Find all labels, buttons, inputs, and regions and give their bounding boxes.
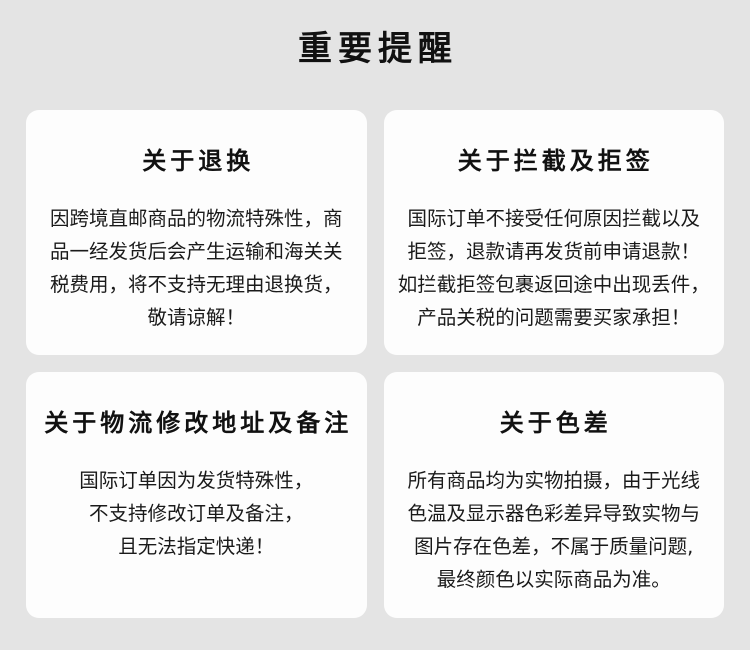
- page-title: 重要提醒: [0, 32, 750, 72]
- notice-card-returns: 关于退换 因跨境直邮商品的物流特殊性，商 品一经发货后会产生运输和海关关 税费用…: [26, 110, 367, 355]
- card-title: 关于色差: [496, 408, 612, 438]
- card-body-line: 国际订单不接受任何原因拦截以及: [398, 202, 710, 235]
- card-body-line: 不支持修改订单及备注，: [79, 497, 313, 530]
- card-body-line: 所有商品均为实物拍摄，由于光线: [407, 464, 700, 497]
- notice-page: 重要提醒 关于退换 因跨境直邮商品的物流特殊性，商 品一经发货后会产生运输和海关…: [0, 0, 750, 650]
- card-title: 关于物流修改地址及备注: [40, 408, 352, 438]
- card-body-line: 最终颜色以实际商品为准。: [407, 563, 700, 596]
- card-body: 所有商品均为实物拍摄，由于光线 色温及显示器色彩差异导致实物与 图片存在色差，不…: [407, 464, 700, 596]
- card-body-line: 图片存在色差，不属于质量问题,: [407, 530, 700, 563]
- card-body-line: 产品关税的问题需要买家承担！: [398, 301, 710, 334]
- card-body-line: 国际订单因为发货特殊性，: [79, 464, 313, 497]
- card-body-line: 色温及显示器色彩差异导致实物与: [407, 497, 700, 530]
- card-title: 关于退换: [138, 146, 254, 176]
- card-body-line: 因跨境直邮商品的物流特殊性，商: [50, 202, 343, 235]
- card-body: 国际订单因为发货特殊性， 不支持修改订单及备注， 且无法指定快递！: [79, 464, 313, 563]
- card-body: 国际订单不接受任何原因拦截以及 拒签，退款请再发货前申请退款！ 如拦截拒签包裹返…: [398, 202, 710, 334]
- card-body-line: 拒签，退款请再发货前申请退款！: [398, 235, 710, 268]
- card-title: 关于拦截及拒签: [454, 146, 654, 176]
- notice-card-address-change: 关于物流修改地址及备注 国际订单因为发货特殊性， 不支持修改订单及备注， 且无法…: [26, 372, 367, 618]
- card-body-line: 税费用，将不支持无理由退换货，: [50, 268, 343, 301]
- notice-card-color-difference: 关于色差 所有商品均为实物拍摄，由于光线 色温及显示器色彩差异导致实物与 图片存…: [384, 372, 725, 618]
- card-body-line: 如拦截拒签包裹返回途中出现丢件，: [398, 268, 710, 301]
- notice-card-grid: 关于退换 因跨境直邮商品的物流特殊性，商 品一经发货后会产生运输和海关关 税费用…: [26, 110, 724, 618]
- card-body-line: 敬请谅解！: [50, 301, 343, 334]
- notice-card-interception: 关于拦截及拒签 国际订单不接受任何原因拦截以及 拒签，退款请再发货前申请退款！ …: [384, 110, 725, 355]
- card-body-line: 品一经发货后会产生运输和海关关: [50, 235, 343, 268]
- card-body-line: 且无法指定快递！: [79, 530, 313, 563]
- card-body: 因跨境直邮商品的物流特殊性，商 品一经发货后会产生运输和海关关 税费用，将不支持…: [50, 202, 343, 334]
